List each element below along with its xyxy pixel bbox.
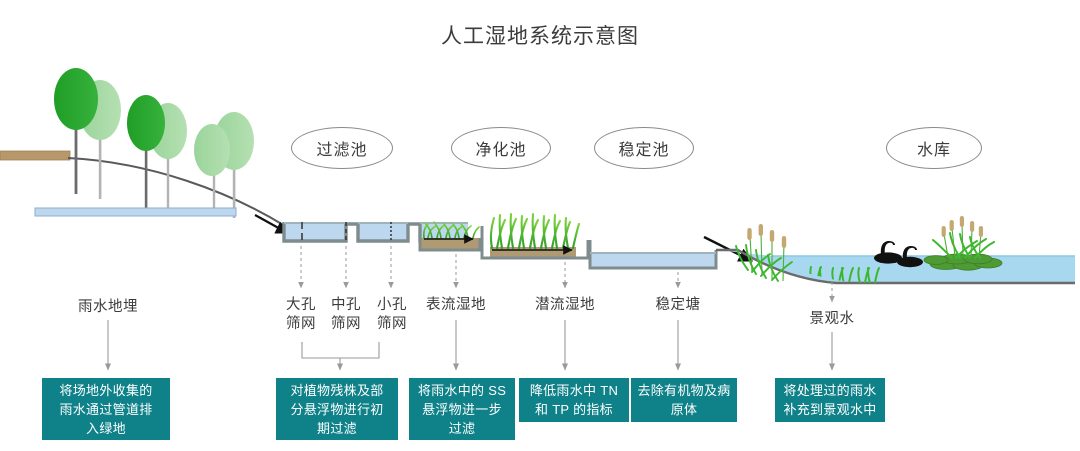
diagram-canvas: 人工湿地系统示意图 [0,0,1080,451]
stage-pill-reservoir[interactable]: 水库 [886,127,982,169]
connector-brackets [108,320,832,370]
stage-pill-reservoir-label: 水库 [917,136,951,160]
desc-box-subsurface: 降低雨水中 TN 和 TP 的指标 [519,378,629,422]
stage-pill-purify[interactable]: 净化池 [451,127,551,169]
underground-pipe [35,208,236,216]
desc-box-landscape: 将处理过的雨水 补充到景观水中 [775,378,885,422]
desc-box-stabilize: 去除有机物及病 原体 [631,378,737,422]
label-surface-flow-wetland: 表流湿地 [416,296,496,315]
stage-pill-filter-label: 过滤池 [316,136,367,160]
desc-box-surface: 将雨水中的 SS 悬浮物进一步 过滤 [409,378,515,440]
subsurface-flow-wetland-graphic [482,214,588,258]
label-rainwater-buried: 雨水地埋 [60,298,156,317]
label-large-hole-screen: 大孔 筛网 [278,296,324,334]
lilypad-island [924,216,1002,270]
stage-pill-purify-label: 净化池 [475,136,526,160]
label-stabilization-pond: 稳定塘 [646,296,710,315]
cattail-cluster-island [933,216,994,258]
desc-box-stabilize-text: 去除有机物及病 原体 [637,381,730,419]
landscape-water-graphic [716,216,1075,283]
desc-box-rainwater-text: 将场地外收集的 雨水通过管道排 入绿地 [59,381,152,438]
desc-box-screens-text: 对植物残株及部 分悬浮物进行初 期过滤 [290,381,383,438]
buried-pipe-inlet [0,151,70,160]
label-subsurface-flow-wetland: 潜流湿地 [525,296,605,315]
desc-box-subsurface-text: 降低雨水中 TN 和 TP 的指标 [530,381,618,419]
desc-box-screens: 对植物残株及部 分悬浮物进行初 期过滤 [276,378,398,440]
label-medium-hole-screen: 中孔 筛网 [323,296,369,334]
label-landscape-water: 景观水 [800,310,864,329]
desc-box-surface-text: 将雨水中的 SS 悬浮物进一步 过滤 [418,381,506,438]
stage-pill-stabilize[interactable]: 稳定池 [594,127,694,169]
stage-pill-filter[interactable]: 过滤池 [291,127,393,169]
stage-pill-stabilize-label: 稳定池 [618,136,669,160]
desc-box-landscape-text: 将处理过的雨水 补充到景观水中 [783,381,876,419]
label-small-hole-screen: 小孔 筛网 [369,296,415,334]
desc-box-rainwater: 将场地外收集的 雨水通过管道排 入绿地 [42,378,170,440]
stabilization-pond-graphic [590,240,716,268]
